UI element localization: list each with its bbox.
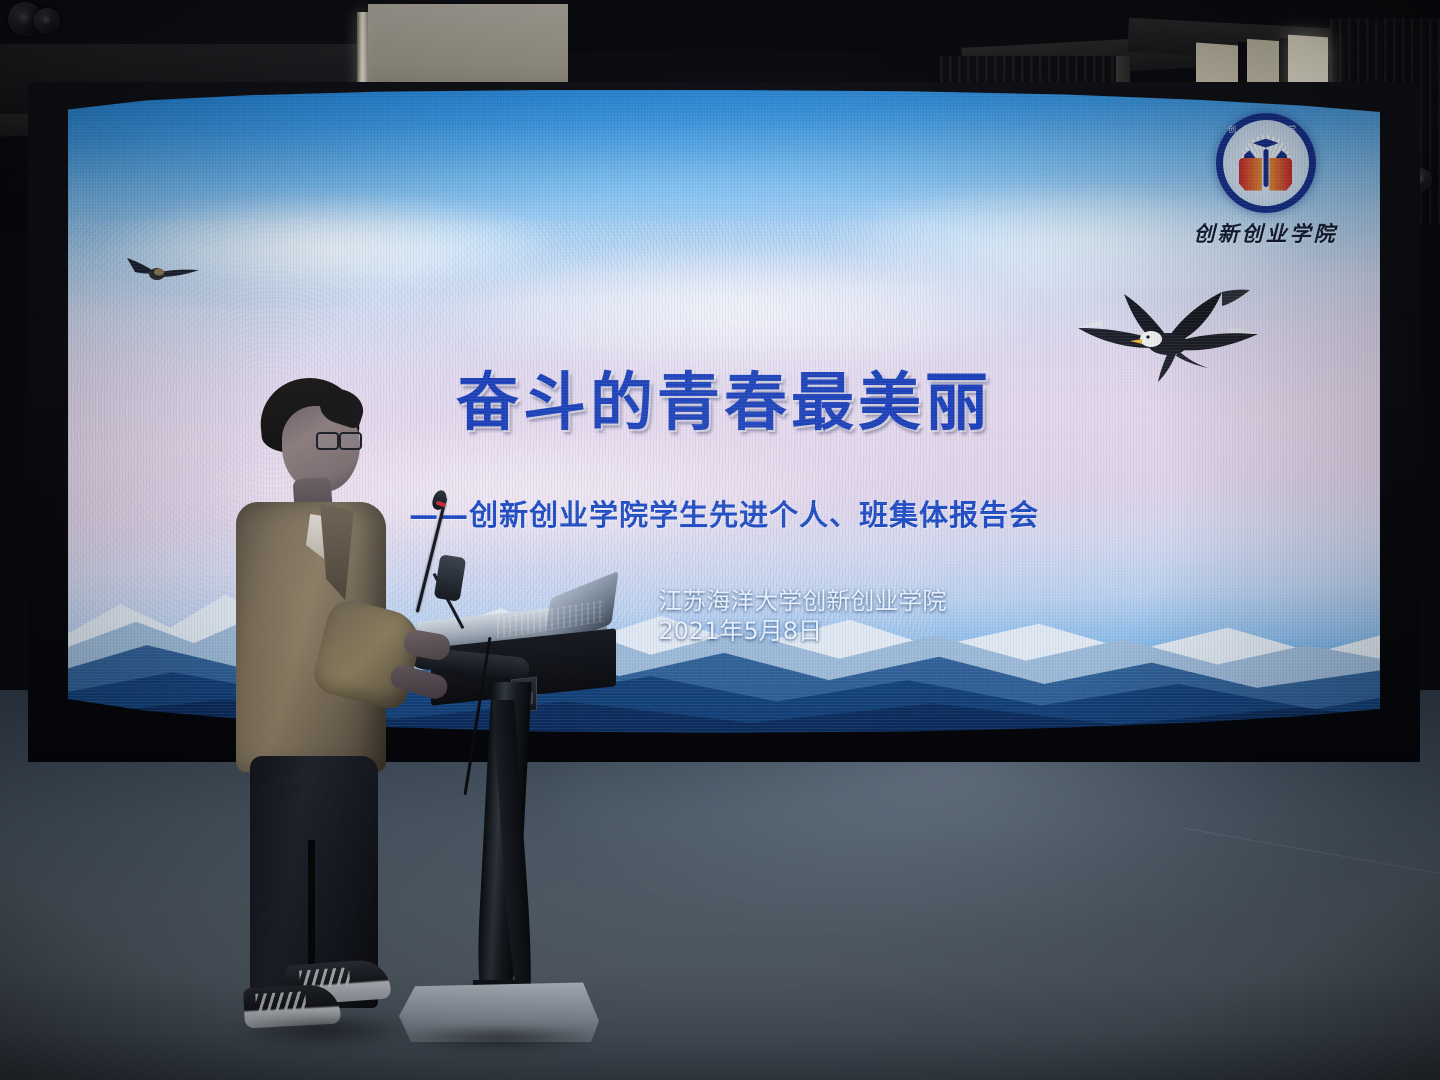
slide-date: 2021年5月8日 — [658, 616, 1380, 647]
eyeglasses-icon — [316, 432, 360, 448]
plant-stem-icon — [1263, 149, 1268, 187]
person-shadow — [234, 1018, 414, 1048]
ceiling-spotlight-icon — [34, 8, 60, 34]
logo-name: 创新创业学院 — [1191, 218, 1341, 248]
book-right-icon — [1269, 158, 1292, 191]
photo-scene: 奋斗的青春最美丽 ——创新创业学院学生先进个人、班集体报告会 江苏海洋大学创新创… — [0, 0, 1440, 1080]
bird-in-flight-icon — [123, 252, 203, 288]
lectern-shadow — [395, 1030, 605, 1052]
logo-ring-icon: 创新创业学院 — [1216, 113, 1316, 213]
institute-logo: 创新创业学院 创新创业学院 — [1191, 113, 1341, 248]
speaker-presenter — [224, 370, 424, 1070]
ceiling-beam-mid — [560, 0, 880, 54]
slide-org: 江苏海洋大学创新创业学院 — [658, 586, 1380, 617]
shoe-laces — [255, 991, 306, 1012]
book-left-icon — [1239, 158, 1262, 191]
